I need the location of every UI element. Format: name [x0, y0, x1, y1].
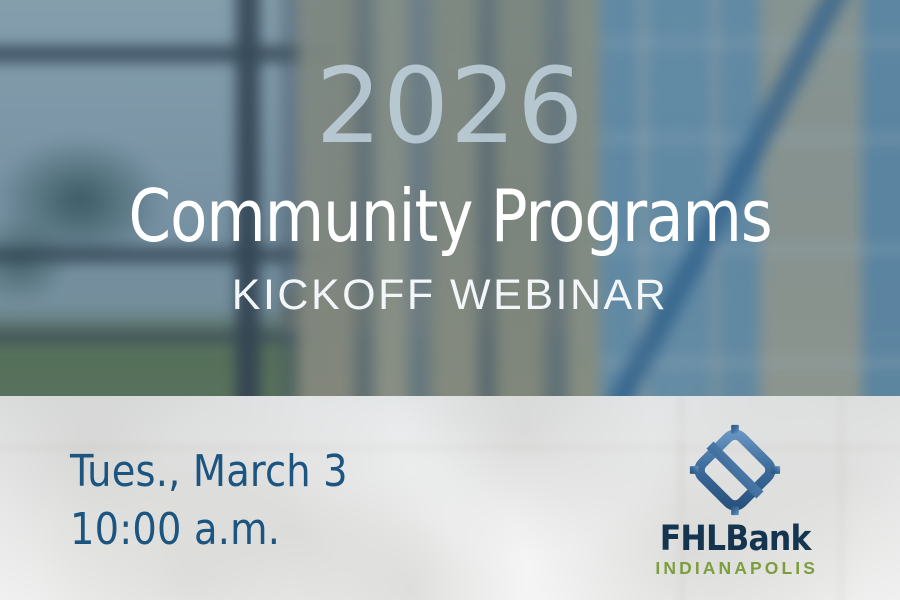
- event-time: 10:00 a.m.: [70, 507, 348, 553]
- hero-headline: Community Programs: [128, 180, 771, 252]
- hero-text-block: 2026 Community Programs KICKOFF WEBINAR: [0, 0, 900, 396]
- hero-subheadline: KICKOFF WEBINAR: [232, 274, 668, 317]
- event-info-band: Tues., March 3 10:00 a.m.: [0, 396, 900, 600]
- fhlbank-knot-icon: [687, 422, 783, 518]
- webinar-announcement-poster: 2026 Community Programs KICKOFF WEBINAR …: [0, 0, 900, 600]
- logo-wordmark: FHLBank: [660, 522, 811, 557]
- event-date: Tues., March 3: [70, 449, 348, 495]
- band-content-row: Tues., March 3 10:00 a.m.: [0, 396, 900, 600]
- logo-city-name: INDIANAPOLIS: [655, 560, 818, 578]
- hero-year: 2026: [316, 54, 585, 158]
- fhlbank-indianapolis-logo: FHLBank INDIANAPOLIS: [652, 422, 818, 578]
- hero-photo-band: 2026 Community Programs KICKOFF WEBINAR: [0, 0, 900, 396]
- event-details: Tues., March 3 10:00 a.m.: [70, 449, 356, 553]
